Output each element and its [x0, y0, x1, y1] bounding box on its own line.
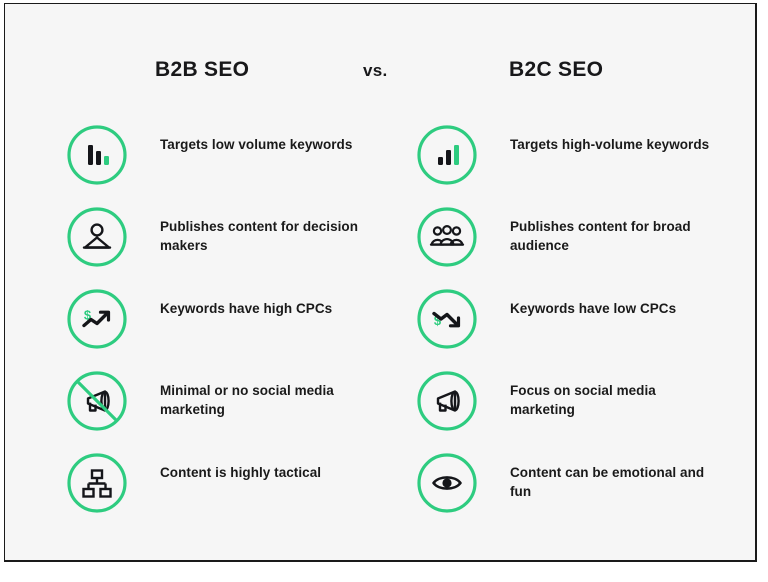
list-item: Publishes content for decision makers — [66, 206, 366, 288]
dollar-arrow-down-icon: $ — [416, 288, 478, 350]
list-item: $ Keywords have high CPCs — [66, 288, 366, 370]
bar-chart-descending-icon — [66, 124, 128, 186]
list-item-label: Keywords have low CPCs — [510, 299, 710, 318]
header-versus: vs. — [363, 61, 388, 81]
dollar-arrow-up-icon: $ — [66, 288, 128, 350]
list-item-label: Publishes content for decision makers — [160, 217, 360, 255]
list-item: Content is highly tactical — [66, 452, 366, 534]
single-person-icon — [66, 206, 128, 268]
list-item: Targets high-volume keywords — [416, 124, 716, 206]
header-b2b-seo: B2B SEO — [155, 58, 249, 82]
header-b2c-seo: B2C SEO — [509, 58, 603, 82]
list-item-label: Targets low volume keywords — [160, 135, 360, 154]
list-item-label: Publishes content for broad audience — [510, 217, 710, 255]
panel-bottom-border — [4, 560, 757, 562]
group-people-icon — [416, 206, 478, 268]
list-item: $ Keywords have low CPCs — [416, 288, 716, 370]
list-item-label: Content is highly tactical — [160, 463, 360, 482]
megaphone-prohibited-icon — [66, 370, 128, 432]
list-item-label: Focus on social media marketing — [510, 381, 710, 419]
bar-chart-ascending-icon — [416, 124, 478, 186]
list-item: Focus on social media marketing — [416, 370, 716, 452]
list-item-label: Content can be emotional and fun — [510, 463, 710, 501]
sitemap-hierarchy-icon — [66, 452, 128, 514]
column-b2b: Targets low volume keywords Publishes co… — [66, 124, 366, 534]
eye-icon — [416, 452, 478, 514]
list-item: Targets low volume keywords — [66, 124, 366, 206]
megaphone-icon — [416, 370, 478, 432]
list-item: Minimal or no social media marketing — [66, 370, 366, 452]
column-b2c: Targets high-volume keywords Publishes c… — [416, 124, 716, 534]
list-item: Publishes content for broad audience — [416, 206, 716, 288]
list-item: Content can be emotional and fun — [416, 452, 716, 534]
infographic-canvas: B2B SEO vs. B2C SEO Targets low volume k… — [0, 0, 768, 582]
column-headers: B2B SEO vs. B2C SEO — [0, 58, 768, 90]
list-item-label: Keywords have high CPCs — [160, 299, 360, 318]
list-item-label: Minimal or no social media marketing — [160, 381, 360, 419]
list-item-label: Targets high-volume keywords — [510, 135, 710, 154]
